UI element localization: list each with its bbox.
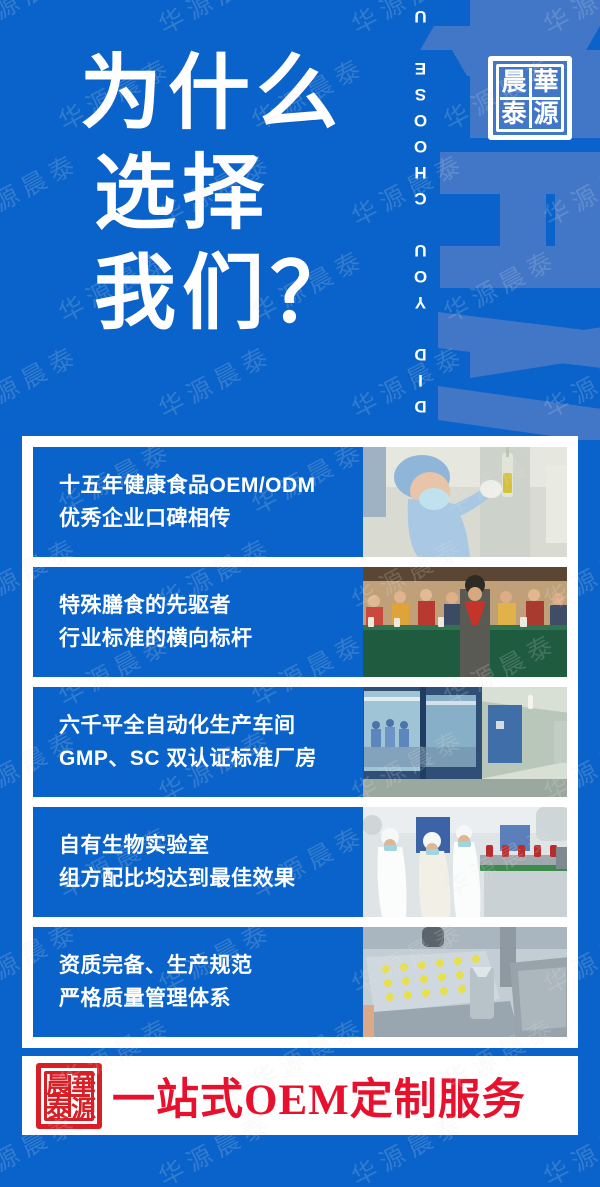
vertical-english-text: DID YOU CHOOSE US [411,0,431,416]
conference-audience-photo [363,567,567,677]
feature-card-text: 六千平全自动化生产车间 GMP、SC 双认证标准厂房 [33,687,363,797]
seal-glyph-top-left: 晨 [46,1073,71,1098]
production-line-workers-photo [363,807,567,917]
seal-glyph-bottom-right: 源 [530,98,562,130]
headline-line-1: 为什么 [80,44,358,144]
feature-card-text: 特殊膳食的先驱者 行业标准的横向标杆 [33,567,363,677]
blister-packaging-photo [363,927,567,1037]
feature-card-line-1: 自有生物实验室 [59,829,363,862]
lab-technician-photo [363,447,567,557]
seal-glyph-bottom-right: 源 [71,1098,96,1123]
company-seal-logo-top: 晨 華 泰 源 [488,56,572,140]
vertical-english-tagline: DID YOU CHOOSE US [404,16,438,416]
feature-card-text: 十五年健康食品OEM/ODM 优秀企业口碑相传 [33,447,363,557]
feature-card-line-1: 十五年健康食品OEM/ODM [59,469,363,502]
feature-card-line-2: 行业标准的横向标杆 [59,622,363,655]
cleanroom-corridor-photo [363,687,567,797]
feature-card[interactable]: 自有生物实验室 组方配比均达到最佳效果 [33,807,567,917]
feature-card[interactable]: 资质完备、生产规范 严格质量管理体系 [33,927,567,1037]
seal-glyph-top-right: 華 [530,66,562,98]
page-title: 为什么 选择 我们？ [80,44,358,344]
seal-glyph-bottom-left: 泰 [46,1098,71,1123]
feature-card[interactable]: 六千平全自动化生产车间 GMP、SC 双认证标准厂房 [33,687,567,797]
feature-card-line-2: GMP、SC 双认证标准厂房 [59,742,363,775]
poster-root: 为什么 选择 我们？ DID YOU CHOOSE US 晨 華 泰 源 十五年… [0,0,600,1187]
bottom-cta-text: 一站式OEM定制服务 [112,1065,526,1127]
feature-card-line-2: 组方配比均达到最佳效果 [59,862,363,895]
feature-card-line-1: 六千平全自动化生产车间 [59,709,363,742]
feature-card-line-1: 资质完备、生产规范 [59,949,363,982]
seal-glyph-top-right: 華 [71,1073,96,1098]
headline-line-3: 我们？ [94,244,358,344]
feature-card-text: 自有生物实验室 组方配比均达到最佳效果 [33,807,363,917]
feature-card[interactable]: 特殊膳食的先驱者 行业标准的横向标杆 [33,567,567,677]
seal-glyph-bottom-left: 泰 [498,98,530,130]
feature-card[interactable]: 十五年健康食品OEM/ODM 优秀企业口碑相传 [33,447,567,557]
feature-card-line-1: 特殊膳食的先驱者 [59,589,363,622]
headline-line-2: 选择 [94,144,358,244]
seal-glyph-top-left: 晨 [498,66,530,98]
bottom-cta-banner[interactable]: 晨 華 泰 源 一站式OEM定制服务 [22,1056,578,1135]
company-seal-logo-bottom: 晨 華 泰 源 [36,1063,102,1129]
feature-card-line-2: 优秀企业口碑相传 [59,502,363,535]
feature-card-line-2: 严格质量管理体系 [59,982,363,1015]
feature-card-text: 资质完备、生产规范 严格质量管理体系 [33,927,363,1037]
feature-card-list: 十五年健康食品OEM/ODM 优秀企业口碑相传 [22,436,578,1048]
